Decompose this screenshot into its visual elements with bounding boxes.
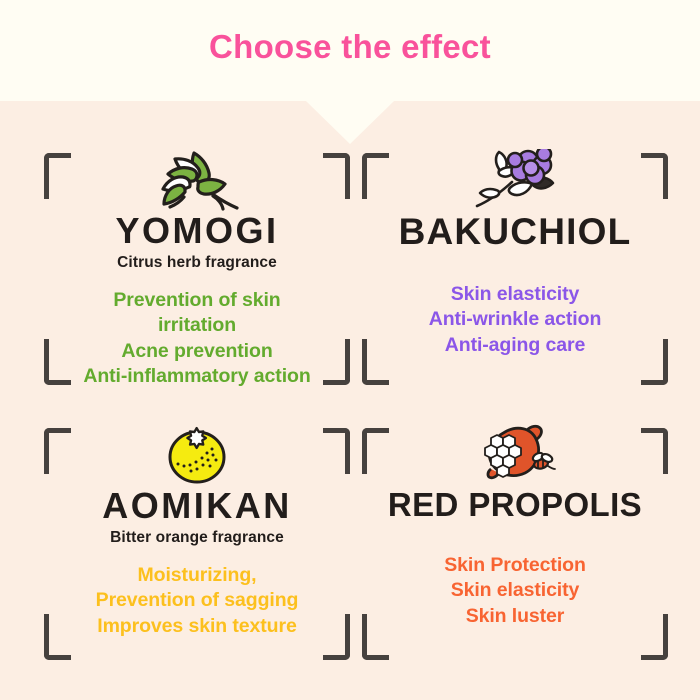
herb-leaf-icon [44, 147, 350, 213]
benefit-line: Skin elasticity [362, 282, 668, 307]
card-benefit-list: Moisturizing, Prevention of sagging Impr… [44, 563, 350, 639]
benefit-line: Skin elasticity [362, 578, 668, 603]
card-title: RED PROPOLIS [362, 488, 668, 521]
effect-card-red-propolis[interactable]: RED PROPOLIS Skin Protection Skin elasti… [362, 428, 668, 660]
benefit-line: Skin Protection [362, 553, 668, 578]
effect-card-bakuchiol[interactable]: BAKUCHIOL Skin elasticity Anti-wrinkle a… [362, 153, 668, 385]
benefit-line: Acne prevention [44, 339, 350, 364]
page-title: Choose the effect [0, 28, 700, 66]
benefit-line: Anti-inflammatory action [44, 364, 350, 389]
benefit-line: irritation [44, 313, 350, 338]
citrus-fruit-icon [44, 422, 350, 488]
card-subtitle: Bitter orange fragrance [44, 529, 350, 547]
effect-card-yomogi[interactable]: YOMOGI Citrus herb fragrance Prevention … [44, 153, 350, 385]
card-title: AOMIKAN [44, 488, 350, 524]
beehive-bee-icon [362, 422, 668, 488]
benefit-line: Improves skin texture [44, 614, 350, 639]
benefit-line: Moisturizing, [44, 563, 350, 588]
purple-flower-icon [362, 147, 668, 213]
effect-card-aomikan[interactable]: AOMIKAN Bitter orange fragrance Moisturi… [44, 428, 350, 660]
card-benefit-list: Skin elasticity Anti-wrinkle action Anti… [362, 282, 668, 358]
header-notch-triangle [306, 101, 394, 144]
benefit-line: Prevention of skin [44, 288, 350, 313]
benefit-line: Skin luster [362, 604, 668, 629]
effect-card-grid: YOMOGI Citrus herb fragrance Prevention … [0, 101, 700, 700]
card-title: BAKUCHIOL [362, 213, 668, 250]
card-title: YOMOGI [44, 213, 350, 249]
card-benefit-list: Prevention of skin irritation Acne preve… [44, 288, 350, 389]
benefit-line: Prevention of sagging [44, 588, 350, 613]
benefit-line: Anti-wrinkle action [362, 307, 668, 332]
card-benefit-list: Skin Protection Skin elasticity Skin lus… [362, 553, 668, 629]
card-subtitle: Citrus herb fragrance [44, 254, 350, 272]
header-band: Choose the effect [0, 0, 700, 101]
benefit-line: Anti-aging care [362, 333, 668, 358]
